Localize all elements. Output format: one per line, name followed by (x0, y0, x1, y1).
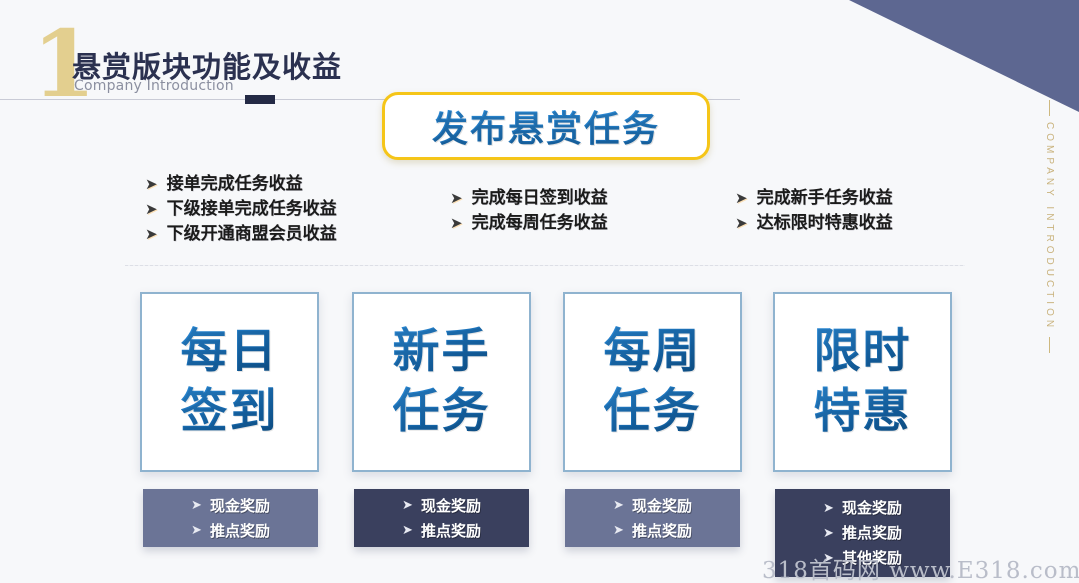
card-title-line-1: 每周 (604, 323, 702, 381)
bullet-item: ➤ 下级接单完成任务收益 (145, 197, 337, 222)
arrow-bullet-icon: ➤ (450, 186, 463, 211)
reward-label: 推点奖励 (421, 519, 481, 543)
arrow-bullet-icon: ➤ (145, 197, 158, 222)
arrow-bullet-icon: ➤ (191, 493, 202, 518)
slide-canvas: 1 悬赏版块功能及收益 Company Introduction COMPANY… (0, 0, 1079, 583)
card-weekly-task[interactable]: 每周 任务 (563, 292, 742, 472)
card-title-line-2: 任务 (604, 383, 702, 441)
reward-label: 推点奖励 (210, 519, 270, 543)
arrow-bullet-icon: ➤ (735, 211, 748, 236)
feature-cards: 每日 签到 新手 任务 每周 任务 限时 特惠 (0, 292, 1079, 472)
arrow-bullet-icon: ➤ (402, 493, 413, 518)
reward-item: ➤ 现金奖励 (191, 493, 270, 518)
bullet-label: 下级接单完成任务收益 (167, 197, 337, 222)
card-title-line-2: 签到 (181, 383, 279, 441)
reward-box-weekly-task: ➤ 现金奖励 ➤ 推点奖励 (565, 489, 740, 547)
reward-label: 其他奖励 (842, 546, 902, 570)
bullet-column-2: ➤ 完成每日签到收益 ➤ 完成每周任务收益 (450, 186, 608, 236)
bullet-item: ➤ 完成每周任务收益 (450, 211, 608, 236)
banner-title: 发布悬赏任务 (432, 100, 660, 152)
bullet-label: 达标限时特惠收益 (757, 211, 893, 236)
reward-label: 现金奖励 (632, 494, 692, 518)
reward-box-newbie-task: ➤ 现金奖励 ➤ 推点奖励 (354, 489, 529, 547)
reward-item: ➤ 推点奖励 (823, 521, 902, 546)
bullet-label: 完成每日签到收益 (472, 186, 608, 211)
bullet-label: 完成新手任务收益 (757, 186, 893, 211)
arrow-bullet-icon: ➤ (191, 518, 202, 543)
arrow-bullet-icon: ➤ (823, 496, 834, 521)
card-title-line-1: 每日 (181, 323, 279, 381)
arrow-bullet-icon: ➤ (823, 546, 834, 571)
reward-item: ➤ 推点奖励 (402, 518, 481, 543)
bullet-label: 下级开通商盟会员收益 (167, 222, 337, 247)
reward-item: ➤ 现金奖励 (402, 493, 481, 518)
bullet-label: 接单完成任务收益 (167, 172, 303, 197)
card-title-line-2: 特惠 (814, 383, 912, 441)
banner-publish-bounty: 发布悬赏任务 (382, 92, 710, 160)
card-title-line-1: 新手 (393, 323, 491, 381)
reward-boxes: ➤ 现金奖励 ➤ 推点奖励 ➤ 现金奖励 ➤ 推点奖励 ➤ 现金奖励 (0, 489, 1079, 583)
card-title-line-2: 任务 (393, 383, 491, 441)
arrow-bullet-icon: ➤ (145, 172, 158, 197)
reward-item: ➤ 其他奖励 (823, 546, 902, 571)
bullet-item: ➤ 接单完成任务收益 (145, 172, 337, 197)
arrow-bullet-icon: ➤ (735, 186, 748, 211)
card-daily-signin[interactable]: 每日 签到 (140, 292, 319, 472)
arrow-bullet-icon: ➤ (613, 493, 624, 518)
card-limited-offer[interactable]: 限时 特惠 (773, 292, 952, 472)
section-divider (125, 265, 965, 266)
arrow-bullet-icon: ➤ (145, 222, 158, 247)
bullet-item: ➤ 完成新手任务收益 (735, 186, 893, 211)
card-title-line-1: 限时 (814, 323, 912, 381)
arrow-bullet-icon: ➤ (613, 518, 624, 543)
reward-item: ➤ 推点奖励 (613, 518, 692, 543)
reward-box-daily-signin: ➤ 现金奖励 ➤ 推点奖励 (143, 489, 318, 547)
bullet-column-3: ➤ 完成新手任务收益 ➤ 达标限时特惠收益 (735, 186, 893, 236)
bullet-label: 完成每周任务收益 (472, 211, 608, 236)
arrow-bullet-icon: ➤ (450, 211, 463, 236)
reward-label: 现金奖励 (842, 496, 902, 520)
arrow-bullet-icon: ➤ (823, 521, 834, 546)
reward-label: 推点奖励 (842, 521, 902, 545)
bullet-item: ➤ 完成每日签到收益 (450, 186, 608, 211)
page-subtitle: Company Introduction (74, 78, 234, 94)
reward-label: 现金奖励 (421, 494, 481, 518)
reward-item: ➤ 现金奖励 (823, 496, 902, 521)
header-divider-accent (245, 95, 275, 104)
side-dash-top-icon (1049, 100, 1050, 116)
reward-item: ➤ 现金奖励 (613, 493, 692, 518)
reward-label: 现金奖励 (210, 494, 270, 518)
reward-box-limited-offer: ➤ 现金奖励 ➤ 推点奖励 ➤ 其他奖励 (775, 489, 950, 577)
card-newbie-task[interactable]: 新手 任务 (352, 292, 531, 472)
reward-label: 推点奖励 (632, 519, 692, 543)
bullet-item: ➤ 达标限时特惠收益 (735, 211, 893, 236)
arrow-bullet-icon: ➤ (402, 518, 413, 543)
corner-triangle-decoration (849, 0, 1079, 112)
reward-item: ➤ 推点奖励 (191, 518, 270, 543)
bullet-column-1: ➤ 接单完成任务收益 ➤ 下级接单完成任务收益 ➤ 下级开通商盟会员收益 (145, 172, 337, 247)
bullet-item: ➤ 下级开通商盟会员收益 (145, 222, 337, 247)
